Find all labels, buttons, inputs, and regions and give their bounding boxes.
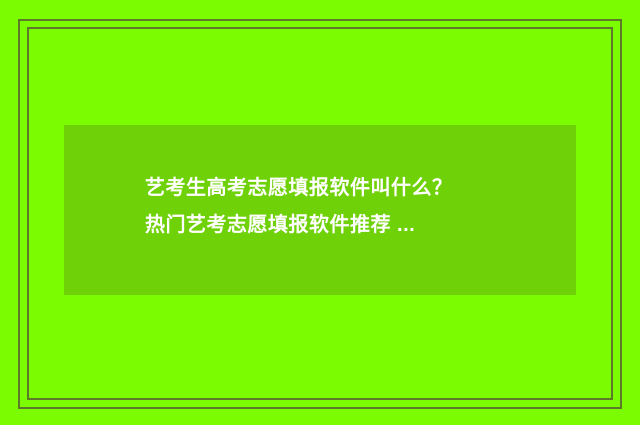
headline-line-2: 热门艺考志愿填报软件推荐 ... [145, 207, 565, 244]
thumbnail-card: 艺考生高考志愿填报软件叫什么？ 热门艺考志愿填报软件推荐 ... [0, 0, 640, 425]
headline-text-block: 艺考生高考志愿填报软件叫什么？ 热门艺考志愿填报软件推荐 ... [145, 170, 565, 244]
headline-panel: 艺考生高考志愿填报软件叫什么？ 热门艺考志愿填报软件推荐 ... [64, 125, 576, 295]
headline-line-1: 艺考生高考志愿填报软件叫什么？ [145, 170, 565, 207]
